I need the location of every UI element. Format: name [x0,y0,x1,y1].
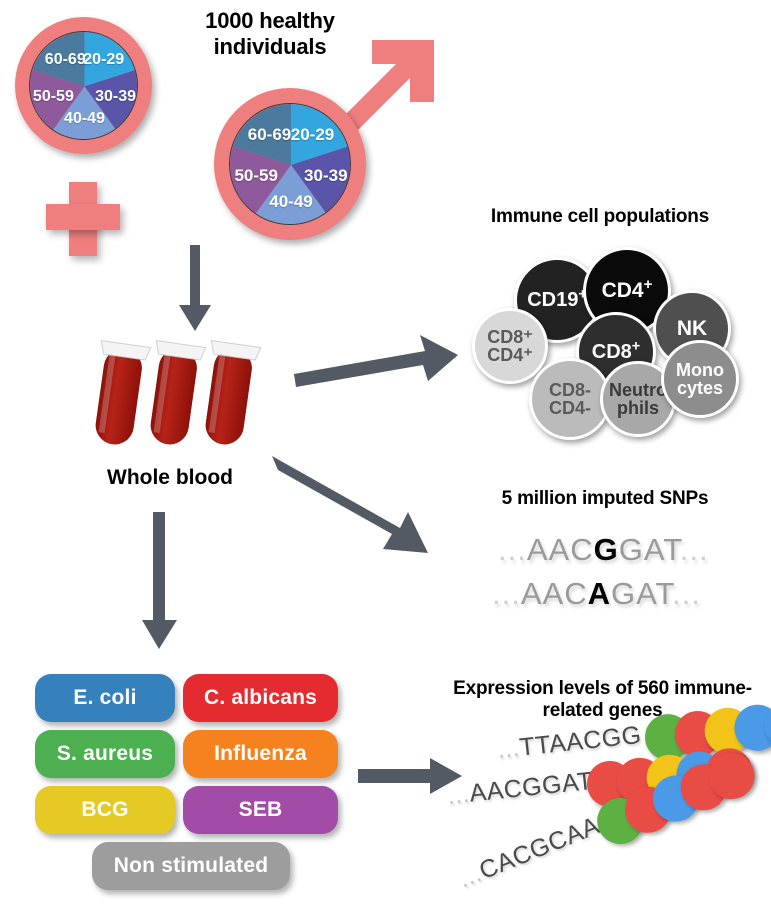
snp-variant-base: G [594,532,619,567]
stimuli-panel: E. coliC. albicansS. aureusInfluenzaBCGS… [0,0,360,922]
stimulus-pill[interactable]: E. coli [35,674,175,722]
stimulus-label: S. aureus [57,742,153,766]
immune-cell-label: CD19+ [527,290,587,310]
snp-bases-before: AAC [527,532,594,567]
stimulus-label: Non stimulated [114,854,268,878]
snp-bases-after: GAT [611,576,672,611]
snp-prefix-ellipsis: ... [492,576,521,611]
snp-bases-before: AAC [521,576,588,611]
immune-cell-label: CD8+ [592,342,640,362]
snp-bases-after: GAT [619,532,680,567]
stimulus-pill[interactable]: S. aureus [35,730,175,778]
snp-sequence-block: ...AACGGAT......AACAGAT... [490,532,740,622]
snp-sequence-row: ...AACAGAT... [492,576,701,612]
snp-sequence-row: ...AACGGAT... [498,532,709,568]
immune-cell-label: CD4+ [602,280,653,301]
stimulus-label: SEB [239,798,283,822]
figure-canvas: 1000 healthy individuals 20-2930-3940-49… [0,0,771,922]
stimulus-label: C. albicans [204,686,317,710]
expression-strand-sequence: ...AACGGAT [446,767,594,811]
section-title-snps: 5 million imputed SNPs [450,488,760,510]
snp-prefix-ellipsis: ... [498,532,527,567]
expression-strands-group: ...TTAACGG...AACGGAT...CACGCAA [440,720,771,920]
stimulus-pill[interactable]: SEB [183,786,338,834]
stimulus-pill[interactable]: Non stimulated [92,842,290,890]
stimulus-label: Influenza [214,742,307,766]
stimulus-pill[interactable]: C. albicans [183,674,338,722]
immune-cell-label: CD8⁺CD4⁺ [487,328,533,365]
immune-cell-bubble: CD8⁺CD4⁺ [472,308,548,384]
snp-variant-base: A [588,576,611,611]
stimulus-label: E. coli [73,686,136,710]
immune-cell-label: Monocytes [676,361,724,398]
strand-prefix-ellipsis: ... [496,734,521,764]
immune-cell-label: CD8-CD4- [549,381,591,418]
immune-cell-bubble: CD8-CD4- [529,358,611,440]
stimulus-pill[interactable]: Influenza [183,730,338,778]
expression-strand-sequence: ...TTAACGG [496,721,643,765]
stimulus-label: BCG [81,798,128,822]
snp-suffix-ellipsis: ... [672,576,701,611]
strand-prefix-ellipsis: ... [446,780,471,810]
strand-prefix-ellipsis: ... [455,859,486,893]
immune-cell-label: Neutrophils [609,381,667,418]
immune-cell-label: NK [677,318,707,339]
immune-cell-bubble: Monocytes [661,340,739,418]
stimulus-pill[interactable]: BCG [35,786,175,834]
snp-suffix-ellipsis: ... [680,532,709,567]
expression-strand-sequence: ...CACGCAA [455,811,604,894]
